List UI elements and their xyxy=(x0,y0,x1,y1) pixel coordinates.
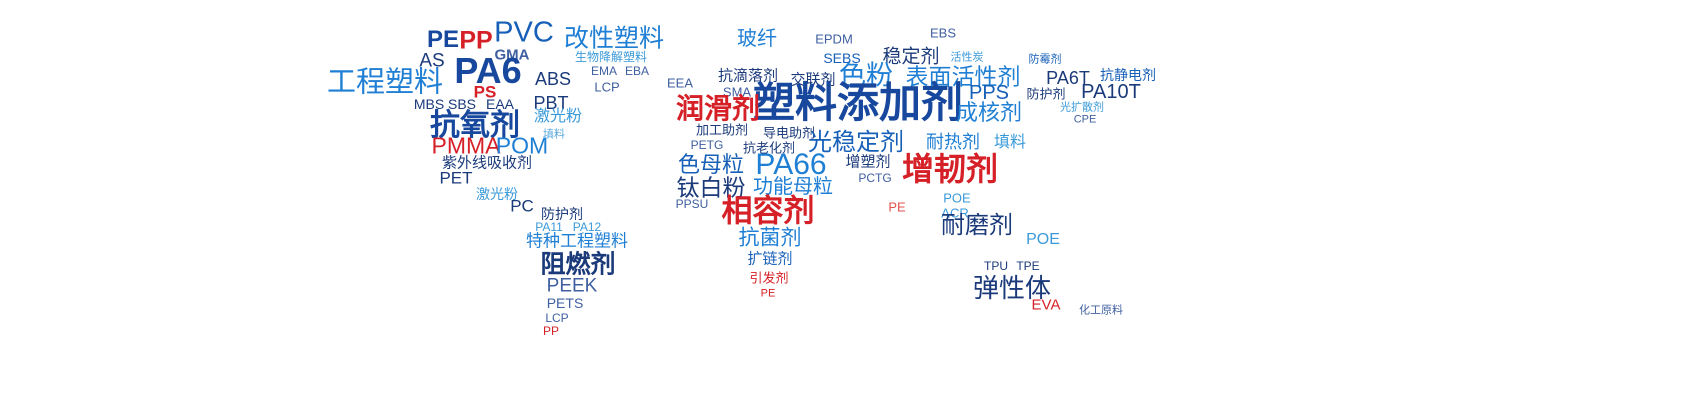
word-cloud-term[interactable]: 光扩散剂 xyxy=(1060,103,1104,114)
word-cloud-term[interactable]: LCP xyxy=(545,312,568,324)
word-cloud-term[interactable]: 抗静电剂 xyxy=(1100,68,1156,82)
word-cloud-term[interactable]: EEA xyxy=(667,77,693,90)
word-cloud-term[interactable]: PET xyxy=(439,170,472,187)
word-cloud-term[interactable]: 玻纤 xyxy=(737,29,777,49)
word-cloud-term[interactable]: 引发剂 xyxy=(749,272,788,285)
word-cloud-term[interactable]: 增韧剂 xyxy=(902,153,998,185)
word-cloud-term[interactable]: 塑料添加剂 xyxy=(753,82,963,124)
word-cloud-term[interactable]: 色母粒 xyxy=(678,154,744,176)
word-cloud-term[interactable]: 相容剂 xyxy=(722,196,815,227)
word-cloud-term[interactable]: POE xyxy=(943,192,970,205)
word-cloud-term[interactable]: 耐磨剂 xyxy=(941,214,1013,238)
word-cloud-term[interactable]: EPDM xyxy=(815,33,853,46)
word-cloud-term[interactable]: 增塑剂 xyxy=(845,155,890,170)
word-cloud-term[interactable]: 扩链剂 xyxy=(747,252,792,267)
word-cloud-term[interactable]: EBA xyxy=(625,65,649,77)
word-cloud-term[interactable]: POE xyxy=(1026,232,1060,248)
word-cloud-term[interactable]: PA10T xyxy=(1081,82,1141,102)
word-cloud-term[interactable]: 成核剂 xyxy=(956,102,1022,124)
word-cloud-canvas: PEPPPVCGMAASPA6ABS工程塑料PSMBSSBSEAAPBT抗氧剂激… xyxy=(0,0,1707,400)
word-cloud-term[interactable]: LCP xyxy=(594,81,619,94)
word-cloud-term[interactable]: 生物降解塑料 xyxy=(575,51,647,63)
word-cloud-term[interactable]: 耐热剂 xyxy=(926,133,980,151)
word-cloud-term[interactable]: 活性炭 xyxy=(951,53,984,64)
word-cloud-term[interactable]: PE xyxy=(427,28,459,52)
word-cloud-term[interactable]: 化工原料 xyxy=(1079,306,1123,317)
word-cloud-term[interactable]: 加工助剂 xyxy=(696,124,748,137)
word-cloud-term[interactable]: 激光粉 xyxy=(534,109,582,125)
word-cloud-term[interactable]: 抗菌剂 xyxy=(739,228,802,249)
word-cloud-term[interactable]: PCTG xyxy=(858,172,891,184)
word-cloud-term[interactable]: PETG xyxy=(691,139,724,151)
word-cloud-term[interactable]: 特种工程塑料 xyxy=(526,233,628,250)
word-cloud-term[interactable]: PP xyxy=(543,325,559,337)
word-cloud-term[interactable]: EBS xyxy=(930,27,956,40)
word-cloud-term[interactable]: ABS xyxy=(535,70,571,88)
word-cloud-term[interactable]: 防护剂 xyxy=(1026,88,1065,101)
word-cloud-term[interactable]: PETS xyxy=(547,296,584,310)
word-cloud-term[interactable]: EVA xyxy=(1032,298,1061,313)
word-cloud-term[interactable]: 工程塑料 xyxy=(327,69,443,98)
word-cloud-term[interactable]: PVC xyxy=(494,19,554,48)
word-cloud-term[interactable]: CPE xyxy=(1074,115,1097,126)
word-cloud-term[interactable]: PC xyxy=(510,198,534,215)
word-cloud-term[interactable]: PE xyxy=(761,289,776,300)
word-cloud-term[interactable]: 润滑剂 xyxy=(676,95,760,123)
word-cloud-term[interactable]: 改性塑料 xyxy=(564,27,664,52)
word-cloud-term[interactable]: 防霉剂 xyxy=(1029,55,1062,66)
word-cloud-term[interactable]: TPE xyxy=(1016,260,1039,272)
word-cloud-term[interactable]: PPSU xyxy=(676,198,709,210)
word-cloud-term[interactable]: 防护剂 xyxy=(541,207,583,221)
word-cloud-term[interactable]: 阻燃剂 xyxy=(540,253,615,278)
word-cloud-term[interactable]: 填料 xyxy=(994,135,1026,151)
word-cloud-term[interactable]: PE xyxy=(888,201,905,214)
word-cloud-term[interactable]: PEEK xyxy=(547,277,598,296)
word-cloud-term[interactable]: TPU xyxy=(984,260,1008,272)
word-cloud-term[interactable]: EMA xyxy=(591,65,617,77)
